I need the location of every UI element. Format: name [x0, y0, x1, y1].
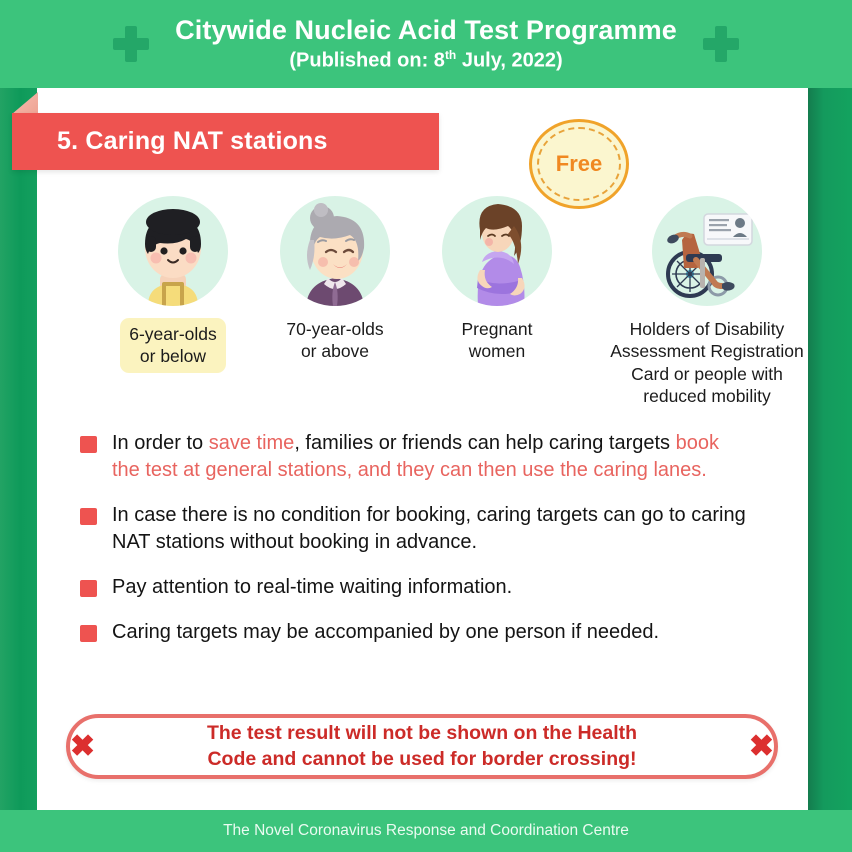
target-group-pregnant: Pregnant women — [427, 196, 567, 363]
bullet-text: Pay attention to real-time waiting infor… — [112, 574, 512, 601]
target-group-elderly: 70-year-olds or above — [265, 196, 405, 363]
left-green-band — [0, 88, 37, 810]
bullet-item: Caring targets may be accompanied by one… — [80, 619, 780, 646]
plus-cross-icon-left — [113, 26, 149, 62]
header-titles: Citywide Nucleic Acid Test Programme (Pu… — [175, 15, 677, 73]
bullet-text: Caring targets may be accompanied by one… — [112, 619, 659, 646]
child-face-icon — [118, 196, 228, 306]
caption-line-2: or above — [301, 341, 369, 361]
target-groups-row: 6-year-olds or below — [37, 196, 808, 411]
target-group-child-caption: 6-year-olds or below — [120, 318, 226, 373]
caption-line-1: 6-year-olds — [129, 324, 217, 344]
cross-x-icon-right: ✖ — [749, 732, 774, 762]
target-group-disability: Holders of Disability Assessment Registr… — [577, 196, 837, 408]
bullet-square-icon — [80, 508, 97, 525]
caption-line-4: reduced mobility — [643, 386, 770, 406]
bullet-square-icon — [80, 625, 97, 642]
section-ribbon: 5. Caring NAT stations — [12, 113, 439, 170]
pregnant-woman-icon — [442, 196, 552, 306]
publish-date-prefix: (Published on: 8 — [289, 50, 445, 72]
caption-line-2: Assessment Registration — [610, 341, 804, 361]
bullet-text: In case there is no condition for bookin… — [112, 502, 752, 556]
caption-line-1: Holders of Disability — [630, 319, 785, 339]
publish-date-ordinal: th — [445, 48, 456, 62]
page-title: Citywide Nucleic Acid Test Programme — [175, 15, 677, 46]
publish-date-suffix: July, 2022) — [456, 50, 562, 72]
target-group-disability-caption: Holders of Disability Assessment Registr… — [577, 318, 837, 408]
caption-line-2: women — [469, 341, 525, 361]
bullet-segment: In order to — [112, 432, 209, 454]
target-group-pregnant-caption: Pregnant women — [427, 318, 567, 363]
warning-line-1: The test result will not be shown on the… — [207, 722, 637, 744]
target-group-child: 6-year-olds or below — [103, 196, 243, 373]
free-badge-label: Free — [556, 151, 602, 177]
warning-text: The test result will not be shown on the… — [95, 721, 749, 772]
cross-x-icon-left: ✖ — [70, 732, 95, 762]
bullet-segment-red: save time — [209, 432, 295, 454]
infographic-poster: Citywide Nucleic Acid Test Programme (Pu… — [0, 0, 852, 852]
plus-cross-icon-right — [703, 26, 739, 62]
bullet-square-icon — [80, 580, 97, 597]
caption-line-2: or below — [140, 346, 206, 366]
caption-line-1: 70-year-olds — [286, 319, 383, 339]
poster-header: Citywide Nucleic Acid Test Programme (Pu… — [0, 0, 852, 88]
warning-line-2: Code and cannot be used for border cross… — [207, 748, 636, 770]
warning-box: ✖ The test result will not be shown on t… — [66, 714, 778, 779]
poster-footer: The Novel Coronavirus Response and Coord… — [0, 810, 852, 852]
target-group-elderly-caption: 70-year-olds or above — [265, 318, 405, 363]
elderly-woman-icon — [280, 196, 390, 306]
section-title: 5. Caring NAT stations — [57, 127, 328, 156]
bullet-segment: , families or friends can help caring ta… — [294, 432, 675, 454]
footer-text: The Novel Coronavirus Response and Coord… — [223, 822, 629, 840]
bullet-text: In order to save time, families or frien… — [112, 430, 752, 484]
wheelchair-card-icon — [652, 196, 762, 306]
publish-date: (Published on: 8th July, 2022) — [175, 49, 677, 73]
bullet-item: In order to save time, families or frien… — [80, 430, 780, 484]
bullet-square-icon — [80, 436, 97, 453]
bullet-item: In case there is no condition for bookin… — [80, 502, 780, 556]
caption-line-3: Card or people with — [631, 364, 783, 384]
bullet-item: Pay attention to real-time waiting infor… — [80, 574, 780, 601]
bullet-list: In order to save time, families or frien… — [80, 430, 780, 664]
caption-line-1: Pregnant — [461, 319, 532, 339]
